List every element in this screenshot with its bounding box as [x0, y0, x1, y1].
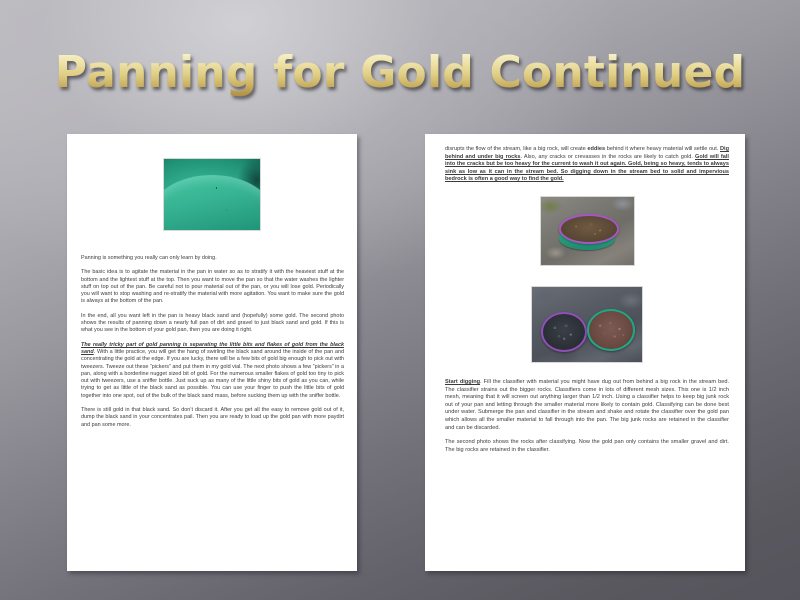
- title-area: Panning for Gold Continued: [0, 36, 800, 108]
- green-pan-with-gravel-shape: [587, 309, 635, 351]
- slide-canvas: Panning for Gold Continued Panning is so…: [0, 0, 800, 600]
- paragraph-eddies-bedrock: disrupts the flow of the stream, like a …: [445, 146, 729, 184]
- start-digging-rest: . Fill the classifier with material you …: [445, 379, 729, 431]
- paragraph-tricky-part: The really tricky part of gold panning i…: [81, 342, 344, 400]
- page-left-content: Panning is something you really can only…: [67, 134, 357, 571]
- gold-pan-closeup-photo: [163, 158, 261, 231]
- paragraph-right-closing: The second photo shows the rocks after c…: [445, 439, 729, 454]
- classifier-over-pan-photo: [540, 196, 635, 266]
- paragraph-left-closing: There is still gold in that black sand. …: [81, 407, 344, 429]
- eddies-plain-3: . Also, any cracks or crevasses in the r…: [521, 154, 695, 160]
- paragraph-black-sand-result: In the end, all you want left in the pan…: [81, 313, 344, 335]
- paragraph-intro: Panning is something you really can only…: [81, 255, 344, 262]
- paragraph-basic-idea: The basic idea is to agitate the materia…: [81, 269, 344, 305]
- two-pans-after-classifying-photo: [531, 286, 643, 363]
- page-right-content: disrupts the flow of the stream, like a …: [425, 134, 745, 571]
- document-page-left[interactable]: Panning is something you really can only…: [67, 134, 357, 571]
- paragraph-start-digging: Start digging. Fill the classifier with …: [445, 379, 729, 432]
- purple-classifier-shape: [559, 214, 619, 244]
- document-page-right[interactable]: disrupts the flow of the stream, like a …: [425, 134, 745, 571]
- tricky-part-rest: . With a little practice, you will get t…: [81, 349, 344, 399]
- eddies-plain-2: behind it where heavy material will sett…: [605, 146, 720, 152]
- eddies-bold: eddies: [587, 146, 605, 152]
- purple-classifier-with-rocks-shape: [541, 312, 587, 352]
- start-digging-lead: Start digging: [445, 379, 480, 385]
- page-title: Panning for Gold Continued: [55, 47, 745, 98]
- eddies-plain-1: disrupts the flow of the stream, like a …: [445, 146, 587, 152]
